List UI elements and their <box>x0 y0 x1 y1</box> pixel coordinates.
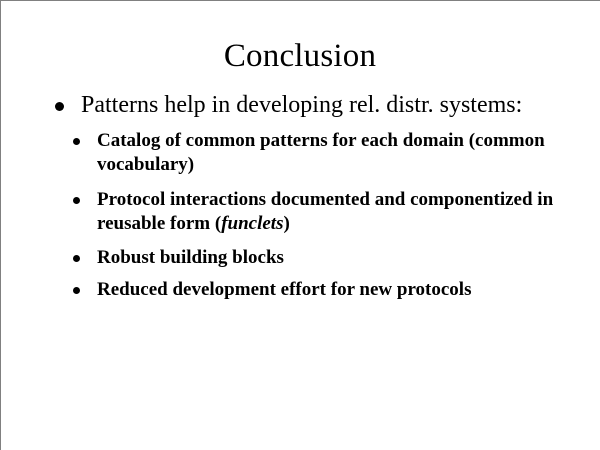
bullet-marker-icon <box>73 255 80 262</box>
bullet-level2-catalog: Catalog of common patterns for each doma… <box>1 129 599 177</box>
bullet-marker-icon <box>73 138 80 145</box>
bullet-level2-label: Protocol interactions documented and com… <box>97 189 553 234</box>
bullet-level1-patterns: Patterns help in developing rel. distr. … <box>1 91 599 119</box>
presentation-slide: Conclusion Patterns help in developing r… <box>0 0 600 450</box>
bullet-marker-icon <box>73 197 80 204</box>
bullet-level2-list: Catalog of common patterns for each doma… <box>1 129 599 302</box>
bullet-level2-label: Robust building blocks <box>97 247 284 268</box>
bullet-level2-label-tail: ) <box>283 213 289 234</box>
bullet-level2-robust: Robust building blocks <box>1 246 599 270</box>
bullet-level2-label: Reduced development effort for new proto… <box>97 279 471 300</box>
bullet-level2-protocol: Protocol interactions documented and com… <box>1 188 599 236</box>
bullet-level2-emphasis-funclets: funclets <box>221 213 283 234</box>
bullet-marker-icon <box>55 102 64 111</box>
bullet-marker-icon <box>73 287 80 294</box>
bullet-level2-reduced: Reduced development effort for new proto… <box>1 278 599 302</box>
page-title: Conclusion <box>1 39 599 74</box>
slide-body: Patterns help in developing rel. distr. … <box>1 91 599 310</box>
bullet-level2-label: Catalog of common patterns for each doma… <box>97 130 545 175</box>
bullet-level1-label: Patterns help in developing rel. distr. … <box>81 92 522 118</box>
